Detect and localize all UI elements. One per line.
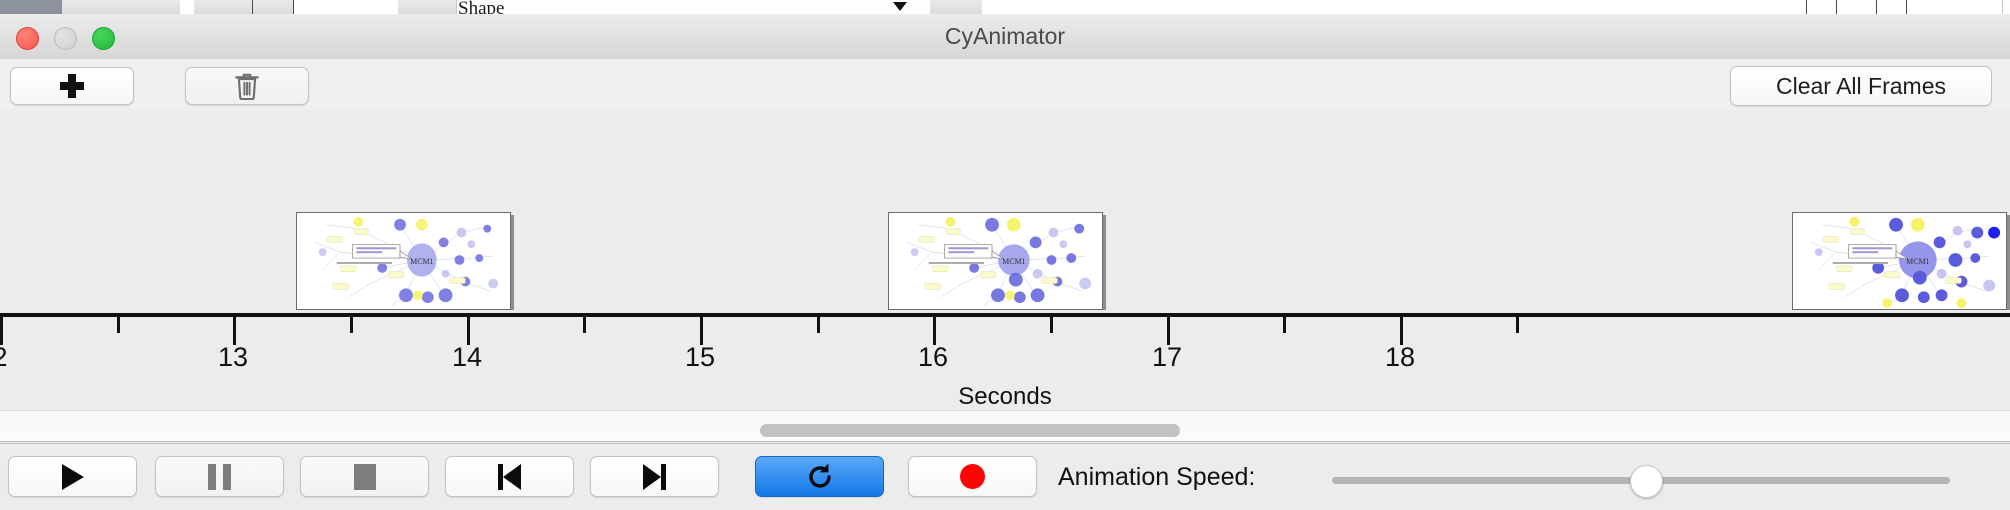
pause-icon: [208, 464, 231, 490]
ruler-tick-major: [1167, 317, 1170, 345]
ruler-axis-label: Seconds: [0, 383, 2010, 411]
animation-speed-label: Animation Speed:: [1058, 463, 1255, 492]
bg-chip: [253, 0, 294, 14]
node-label: MCM1: [410, 257, 433, 266]
ruler-tick-minor: [1283, 317, 1286, 333]
clear-all-frames-button[interactable]: Clear All Frames: [1730, 66, 1992, 106]
ruler-tick-label: 16: [918, 342, 948, 373]
record-icon: [960, 464, 985, 489]
play-icon: [62, 464, 84, 490]
animation-speed-slider-thumb[interactable]: [1630, 465, 1663, 498]
timeline-scrollbar-thumb[interactable]: [760, 424, 1180, 437]
bg-chip: [398, 0, 457, 14]
ruler-tick-major: [233, 317, 236, 345]
network-graph-preview: MCM1: [1793, 213, 2006, 309]
loop-icon: [805, 462, 835, 492]
skip-forward-icon: [643, 464, 666, 490]
ruler-tick-label: 18: [1385, 342, 1415, 373]
ruler-tick-minor: [583, 317, 586, 333]
window-title: CyAnimator: [0, 14, 2010, 59]
loop-button[interactable]: [755, 456, 884, 497]
ruler-tick-minor: [817, 317, 820, 333]
frame-thumbnail[interactable]: MCM1: [296, 212, 511, 310]
plus-icon: [59, 73, 85, 99]
toolbar: Clear All Frames: [0, 59, 2010, 111]
timeline-ruler[interactable]: 2131415161718 Seconds: [0, 310, 2010, 400]
ruler-tick-minor: [350, 317, 353, 333]
bg-tick: [1876, 0, 1877, 14]
background-window-label: Shape: [458, 0, 504, 15]
ruler-tick-major: [933, 317, 936, 345]
ruler-tick-major: [467, 317, 470, 345]
ruler-tick-label: 13: [218, 342, 248, 373]
bg-chip: [294, 0, 399, 14]
ruler-tick-minor: [1050, 317, 1053, 333]
title-bar: CyAnimator: [0, 14, 2010, 60]
delete-frame-button[interactable]: [185, 67, 309, 105]
bg-chip: [194, 0, 253, 14]
bg-chip: [180, 0, 195, 14]
first-frame-button[interactable]: [445, 456, 574, 497]
trash-icon: [234, 72, 260, 100]
stop-icon: [354, 464, 376, 490]
bg-tick: [1836, 0, 1837, 14]
network-graph-preview: MCM1: [297, 213, 510, 309]
bg-arrow-icon: [893, 2, 907, 11]
bg-chip: [930, 0, 983, 14]
ruler-tick-label: 2: [0, 342, 8, 373]
bg-chip: [982, 0, 2003, 14]
ruler-tick-label: 14: [452, 342, 482, 373]
pause-button[interactable]: [155, 456, 284, 497]
bg-tick: [1806, 0, 1807, 14]
add-frame-button[interactable]: [10, 67, 134, 105]
node-label: MCM1: [1906, 257, 1929, 266]
bg-chip: [0, 0, 63, 14]
ruler-tick-major: [1400, 317, 1403, 345]
node-label: MCM1: [1002, 257, 1025, 266]
record-button[interactable]: [908, 456, 1037, 497]
last-frame-button[interactable]: [590, 456, 719, 497]
frame-thumbnail[interactable]: MCM1: [1792, 212, 2007, 310]
play-button[interactable]: [8, 456, 137, 497]
frame-thumbnail[interactable]: MCM1: [888, 212, 1103, 310]
ruler-tick-minor: [1516, 317, 1519, 333]
background-window-strip: Shape: [0, 0, 2010, 15]
stop-button[interactable]: [300, 456, 429, 497]
cyanimator-window: Shape CyAnimator Clear All Frames: [0, 0, 2010, 510]
clear-all-frames-label: Clear All Frames: [1776, 73, 1946, 100]
ruler-tick-label: 17: [1152, 342, 1182, 373]
ruler-baseline: [0, 313, 2010, 317]
ruler-tick-label: 15: [685, 342, 715, 373]
ruler-tick-major: [700, 317, 703, 345]
bg-tick: [1906, 0, 1907, 14]
ruler-tick-major: [0, 317, 3, 345]
network-graph-preview: MCM1: [889, 213, 1102, 309]
ruler-tick-minor: [117, 317, 120, 333]
skip-back-icon: [498, 464, 521, 490]
bg-chip: [62, 0, 181, 14]
